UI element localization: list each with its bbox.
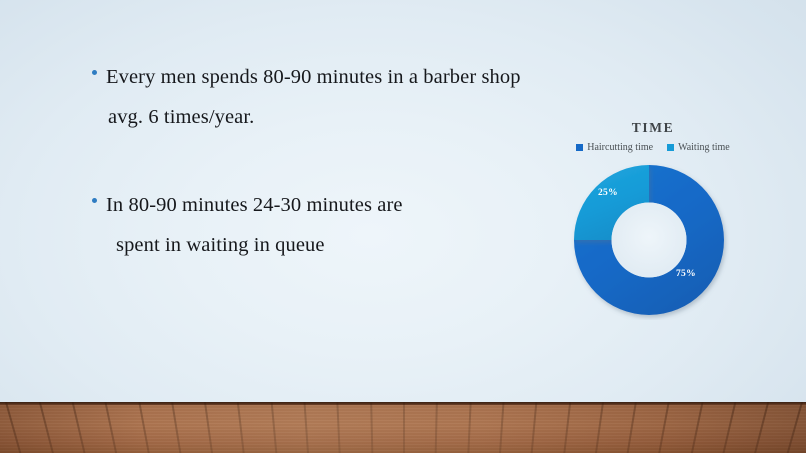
bullet-1-line-2: avg. 6 times/year. <box>108 97 521 137</box>
bullet-2-line-2: spent in waiting in queue <box>116 225 403 265</box>
legend-swatch-haircutting-time <box>576 144 583 151</box>
bullet-1-line-1: Every men spends 80-90 minutes in a barb… <box>106 57 521 97</box>
legend-swatch-waiting-time <box>667 144 674 151</box>
chart-title: TIME <box>548 120 758 136</box>
chart-legend: Haircutting time Waiting time <box>548 142 758 153</box>
legend-item-waiting-time: Waiting time <box>667 142 730 153</box>
slide-canvas: Every men spends 80-90 minutes in a barb… <box>0 0 806 453</box>
bullet-dot-icon <box>92 70 97 75</box>
slice-label-haircutting-time: 75% <box>676 269 696 279</box>
slice-label-waiting-time: 25% <box>598 188 618 198</box>
bullet-item-2: In 80-90 minutes 24-30 minutes are spent… <box>92 185 403 265</box>
legend-label-waiting-time: Waiting time <box>678 142 730 153</box>
doughnut-plot-area: 25% 75% <box>548 160 758 320</box>
doughnut-svg <box>569 160 729 320</box>
bullet-row: Every men spends 80-90 minutes in a barb… <box>92 57 521 97</box>
doughnut-hole <box>612 203 687 278</box>
bullet-row: In 80-90 minutes 24-30 minutes are <box>92 185 403 225</box>
legend-label-haircutting-time: Haircutting time <box>587 142 653 153</box>
bullet-item-1: Every men spends 80-90 minutes in a barb… <box>92 57 521 137</box>
floor-sheen <box>0 405 806 453</box>
time-doughnut-chart[interactable]: TIME Haircutting time Waiting time <box>548 120 758 355</box>
wooden-floor-decoration <box>0 402 806 453</box>
legend-item-haircutting-time: Haircutting time <box>576 142 653 153</box>
bullet-2-line-1: In 80-90 minutes 24-30 minutes are <box>106 185 403 225</box>
bullet-dot-icon <box>92 198 97 203</box>
